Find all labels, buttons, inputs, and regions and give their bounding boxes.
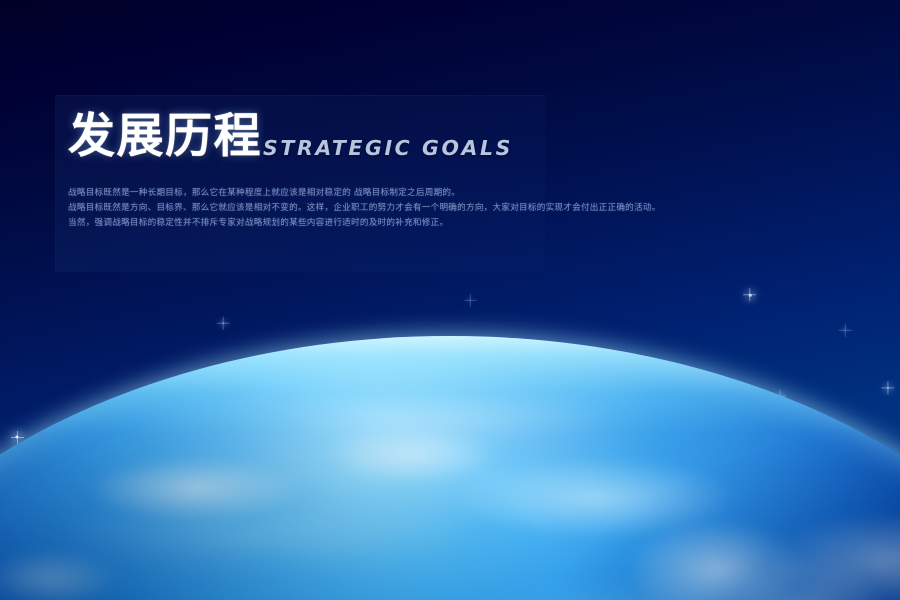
page-title: 发展历程 (68, 113, 262, 160)
body-paragraph-line: 当然，强调战略目标的稳定性并不排斥专家对战略规划的某些内容进行适时的及时的补充和… (68, 216, 858, 231)
banner-body-copy: 战略目标既然是一种长期目标，那么它在某种程度上就应该是相对稳定的 战略目标制定之… (68, 186, 858, 232)
banner-heading: 发展历程 STRATEGIC GOALS (68, 113, 513, 160)
page-subtitle: STRATEGIC GOALS (263, 138, 513, 161)
body-paragraph-line: 战略目标既然是方向、目标界、那么它就应该是相对不变的。这样，企业职工的努力才会有… (68, 201, 858, 216)
body-paragraph-line: 战略目标既然是一种长期目标，那么它在某种程度上就应该是相对稳定的 战略目标制定之… (68, 186, 858, 201)
space-background (0, 0, 900, 600)
banner-stage: 发展历程 STRATEGIC GOALS 战略目标既然是一种长期目标，那么它在某… (0, 0, 900, 600)
